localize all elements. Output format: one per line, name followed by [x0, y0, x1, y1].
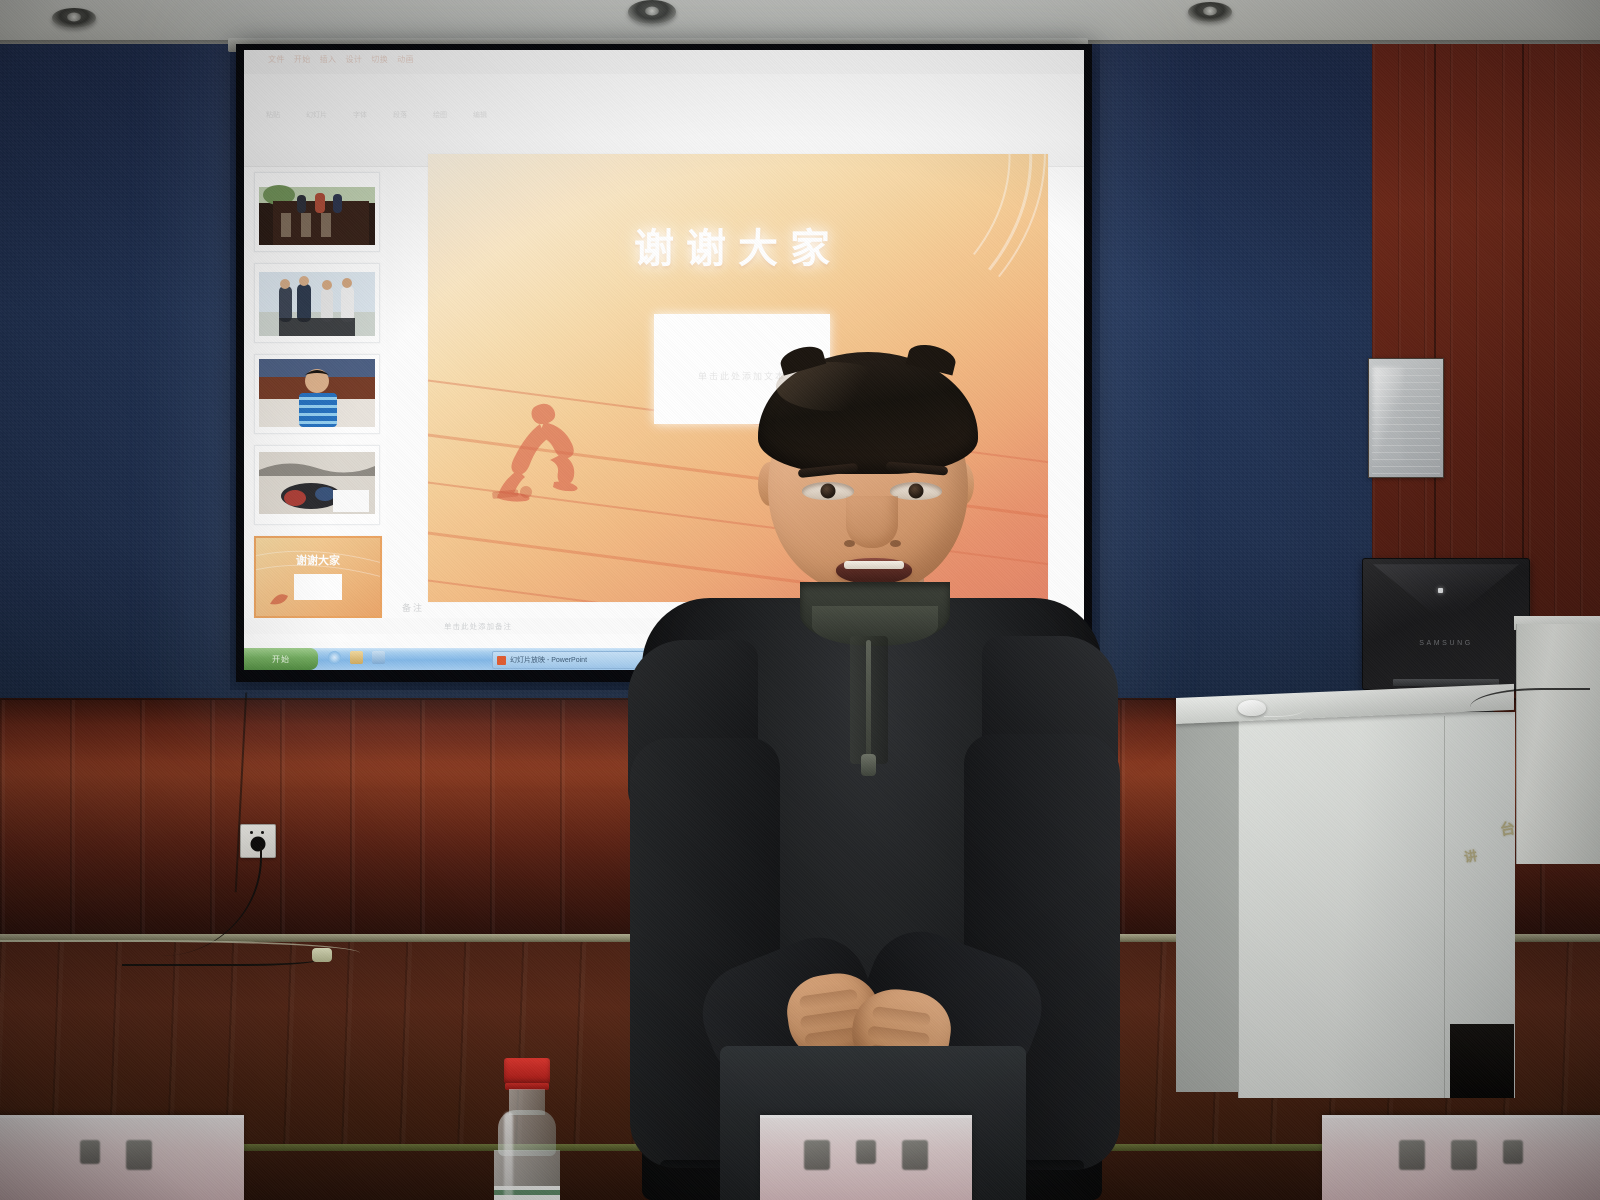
downlight-left-icon: [52, 8, 96, 28]
thumb-photo-activity: [255, 446, 379, 524]
ppt-notes-placeholder[interactable]: 备注: [402, 601, 424, 614]
powerpoint-icon: [497, 656, 506, 665]
tab-insert[interactable]: 插入: [320, 54, 337, 65]
notice-glare: [1373, 367, 1403, 463]
media-icon[interactable]: [372, 651, 385, 664]
bottle-highlight: [504, 1112, 513, 1200]
ie-icon[interactable]: [328, 651, 341, 664]
computer-mouse[interactable]: [1238, 700, 1266, 716]
slide-thumbnail-3[interactable]: 3: [254, 354, 380, 434]
tab-file[interactable]: 文件: [268, 54, 285, 65]
thumb-photo-portrait-stripe: [255, 355, 379, 433]
lecture-hall-photo: 文件 开始 插入 设计 切换 动画 粘贴 幻灯片 字体 段落 绘图 编辑 1: [0, 0, 1600, 1200]
thumb-slide-thanks: 谢谢大家: [256, 538, 380, 616]
podium-sticker-1: 讲: [1463, 845, 1479, 866]
slide-thumbnail-panel[interactable]: 1 2: [254, 172, 386, 642]
slide-thumbnail-1[interactable]: 1: [254, 172, 380, 252]
tab-transitions[interactable]: 切换: [371, 54, 388, 65]
ribbon-group-edit: 编辑: [473, 110, 487, 120]
monitor-highlight: [1438, 588, 1443, 593]
tab-design[interactable]: 设计: [345, 54, 362, 65]
floor-cable: [122, 948, 322, 966]
start-button[interactable]: 开始: [244, 648, 318, 670]
ppt-ribbon-tabs[interactable]: 文件 开始 插入 设计 切换 动画: [268, 54, 414, 65]
ppt-ribbon[interactable]: [244, 74, 1084, 166]
ppt-ribbon-groups: 粘贴 幻灯片 字体 段落 绘图 编辑: [266, 110, 487, 120]
nostril-right: [890, 540, 901, 547]
zipper-pull: [861, 754, 876, 776]
slide-thumbnail-4[interactable]: 4: [254, 445, 380, 525]
presenter: [612, 346, 1132, 1200]
thumb-photo-group-building: [255, 173, 379, 251]
slide-title: 谢谢大家: [428, 216, 1048, 274]
floor-cable-connector: [312, 948, 332, 962]
nameplate-center: [760, 1115, 972, 1200]
quick-launch-bar[interactable]: [328, 651, 385, 664]
monitor-brand-label: SAMSUNG: [1419, 640, 1473, 647]
nameplate-right: [1322, 1115, 1600, 1200]
podium-desk: 讲 台: [1176, 698, 1514, 1098]
thumb-photo-group-four: [255, 264, 379, 342]
podium-monitor: SAMSUNG: [1362, 558, 1530, 690]
bottle-cap: [504, 1058, 550, 1084]
water-bottle[interactable]: [492, 1058, 562, 1200]
nostril-left: [844, 540, 855, 547]
nameplate-left: [0, 1115, 244, 1200]
slide-thumbnail-5[interactable]: 5 谢谢大家: [254, 536, 382, 618]
screen-side-cable: [145, 688, 247, 893]
tab-home[interactable]: 开始: [294, 54, 311, 65]
taskbar-window-label: 幻灯片放映 - PowerPoint: [510, 655, 587, 665]
nose: [846, 496, 898, 548]
ribbon-group-font: 字体: [353, 110, 367, 120]
podium-sticker-2: 台: [1498, 817, 1516, 840]
wall-notice-frame: [1368, 358, 1444, 478]
slide-thumbnail-2[interactable]: 2: [254, 263, 380, 343]
thumb-5-title: 谢谢大家: [296, 553, 341, 567]
ribbon-group-para: 段落: [393, 110, 407, 120]
ribbon-group-slides: 幻灯片: [306, 110, 327, 120]
podium-panel-seam: [1444, 716, 1445, 1098]
ribbon-group-paste: 粘贴: [266, 110, 280, 120]
downlight-right-icon: [1188, 2, 1232, 22]
zipper: [866, 640, 871, 758]
sprinter-silhouette-icon: [484, 400, 608, 504]
podium-cable-cavity: [1450, 1024, 1514, 1098]
folder-icon[interactable]: [350, 651, 363, 664]
tab-animations[interactable]: 动画: [397, 54, 414, 65]
ppt-status-text: 单击此处添加备注: [444, 621, 512, 632]
downlight-center-icon: [628, 0, 676, 24]
computer-tower: [1516, 624, 1600, 864]
ribbon-group-draw: 绘图: [433, 110, 447, 120]
